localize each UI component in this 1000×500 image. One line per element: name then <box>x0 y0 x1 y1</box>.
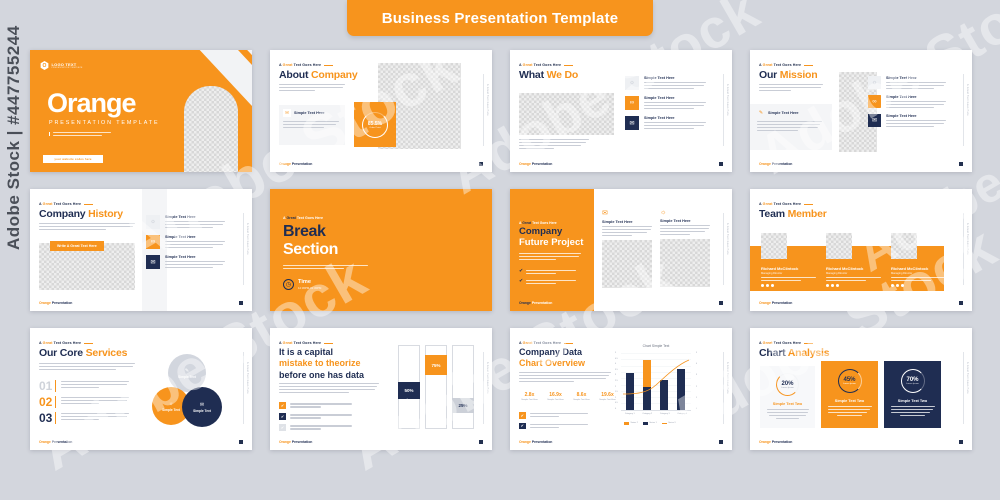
eyebrow: A Great Text Goes Here <box>759 202 813 206</box>
stat-row: 2.8x Sample Text Here 16.9x Sample Text … <box>519 392 618 402</box>
circle-label: Simple Text <box>178 375 196 379</box>
footer-brand: Orange Presentation <box>519 162 552 166</box>
slide-our-mission[interactable]: A Great Text Goes Here A Great Text Goes… <box>750 50 972 172</box>
card-title: Simple Text Two <box>773 402 802 406</box>
venn-circle-navy[interactable]: ✉ Simple Text <box>182 387 222 427</box>
donut-chart: 70% Lorem Ipsum <box>901 369 925 393</box>
stat-label: Sample Text Here <box>519 399 540 402</box>
card-title: Simple Text Two <box>835 399 864 403</box>
side-rail <box>243 352 244 424</box>
check-icon: ✔ <box>519 279 523 284</box>
rail-label: A Great Text Goes Here <box>966 362 969 394</box>
item-title: Simple Text Here <box>886 114 946 118</box>
slide-title: What We Do <box>519 69 578 81</box>
member-name: Richard McClintock <box>826 266 881 271</box>
chart-plot <box>621 353 691 411</box>
slide-title: About Company <box>279 69 358 81</box>
cta-button[interactable]: Write A Great Text Here <box>50 241 104 251</box>
footer-brand: Orange Presentation <box>39 301 72 305</box>
watermark-id: Adobe Stock | #447755244 <box>4 25 24 250</box>
social-icon[interactable] <box>771 284 774 287</box>
project-column[interactable]: ✉ Simple Text Here <box>602 209 652 288</box>
list-item[interactable]: 02 <box>39 396 129 408</box>
stat-value: 8.6x <box>571 392 592 398</box>
stat-tile: 85.5% Order Point <box>354 102 396 147</box>
info-card: ✉ Simple Text Here <box>279 105 345 145</box>
slide-our-core-services[interactable]: A Great Text Goes Here A Great Text Goes… <box>30 328 252 450</box>
donut-chart: 45% Lorem Ipsum <box>838 369 862 393</box>
member-role: Managing Director <box>891 272 946 275</box>
social-icon[interactable] <box>826 284 829 287</box>
rail-label: A Great Text Goes Here <box>726 223 729 255</box>
list-item[interactable]: ☼ Simple Text Here <box>868 76 946 89</box>
eyebrow: A Great Text Goes Here <box>759 341 813 345</box>
pen-icon: ✎ <box>185 368 189 374</box>
feature-list: ☼ Simple Text Here ∞ Simple Text Here ✉ … <box>868 76 946 127</box>
slide-company-history[interactable]: A Great Text Goes Here A Great Text Goes… <box>30 189 252 311</box>
eyebrow: A Great Text Goes Here <box>519 63 573 67</box>
item-title: Simple Text Here <box>165 215 225 219</box>
social-icon[interactable] <box>831 284 834 287</box>
analysis-card-1[interactable]: 20% Lorem Ipsum Simple Text Two <box>760 366 815 428</box>
slide-title-slide[interactable]: O LOGO TEXT PRESENTATION TEMPLATE Orange… <box>30 50 252 172</box>
check-item[interactable]: ✔ <box>519 412 588 419</box>
feature-list: ☼ Simple Text Here ∞ Simple Text Here ✉ … <box>146 215 225 269</box>
circle-label: Simple Text <box>193 409 211 413</box>
page-number <box>479 440 483 444</box>
social-icon[interactable] <box>891 284 894 287</box>
donut-sublabel: Lorem Ipsum <box>906 383 919 385</box>
check-list: ✔ ✔ <box>519 269 576 284</box>
avatar <box>761 233 787 259</box>
slide-team-member[interactable]: A Great Text Goes Here A Great Text Goes… <box>750 189 972 311</box>
break-title-line2: Section <box>283 242 338 258</box>
chat-icon: ✉ <box>625 116 639 130</box>
stat-item: 2.8x Sample Text Here <box>519 392 540 402</box>
pen-icon: ✎ <box>757 109 765 117</box>
legend-item[interactable]: Series 1 <box>643 422 657 425</box>
social-icon[interactable] <box>761 284 764 287</box>
stat-item: 8.6x Sample Text Here <box>571 392 592 402</box>
list-number: 02 <box>39 396 56 408</box>
website-field[interactable]: your website codes here <box>43 155 103 163</box>
trend-line <box>621 353 691 411</box>
social-icon[interactable] <box>901 284 904 287</box>
time-value: 12:30PM-01:30PM <box>298 286 321 290</box>
item-title: Simple Text Here <box>660 219 710 223</box>
donut-chart: 85.5% Order Point <box>362 112 388 138</box>
donut-chart: 20% Lorem Ipsum <box>776 373 799 396</box>
slide-title: Company History <box>39 208 123 220</box>
item-title: Simple Text Here <box>644 96 706 100</box>
list-item[interactable]: ✉ Simple Text Here <box>625 116 706 130</box>
slide-description <box>519 139 589 149</box>
list-item[interactable]: 03 <box>39 412 129 424</box>
y-axis: 54.543.532.521.510.50 <box>615 352 618 410</box>
slide-description <box>519 253 581 260</box>
x-tick: Category 3 <box>660 413 670 415</box>
item-title: Simple Text Here <box>886 76 946 80</box>
slide-description <box>279 383 379 393</box>
page-number <box>239 301 243 305</box>
card-title: Simple Text Here <box>768 111 799 115</box>
member-card[interactable]: Richard McClintock Managing Director <box>891 266 946 287</box>
stat-item: 16.9x Sample Text Here <box>545 392 566 402</box>
check-icon: ✔ <box>279 413 286 420</box>
rail-label: A Great Text Goes Here <box>726 84 729 116</box>
list-item[interactable]: 01 <box>39 380 129 392</box>
chat-icon: ✉ <box>868 114 881 127</box>
list-item[interactable]: ✉ Simple Text Here <box>146 255 225 269</box>
banner-title: Business Presentation Template <box>382 10 619 27</box>
item-title: Simple Text Here <box>165 255 225 259</box>
break-description <box>283 265 368 269</box>
project-column[interactable]: ☼ Simple Text Here <box>660 209 710 288</box>
check-icon: ✔ <box>519 269 523 274</box>
eyebrow: A Great Text Goes Here <box>519 341 573 345</box>
footer-brand: Orange Presentation <box>39 440 72 444</box>
rail-label: A Great Text Goes Here <box>486 84 489 116</box>
slide-title: Orange <box>47 88 136 119</box>
page-number <box>719 162 723 166</box>
list-item[interactable]: ∞ Simple Text Here <box>146 235 225 249</box>
check-list: ✔ ✔ <box>519 412 588 429</box>
check-icon: ✔ <box>519 412 526 419</box>
numbered-list: 01 02 03 <box>39 380 129 424</box>
logo-hex-icon: O <box>40 61 49 70</box>
slide-title: CompanyFuture Project <box>519 227 583 249</box>
side-rail <box>723 352 724 424</box>
eyebrow: A Great Text Goes Here <box>279 63 333 67</box>
page-number <box>719 301 723 305</box>
link-icon: ∞ <box>146 235 160 249</box>
logo: O LOGO TEXT PRESENTATION TEMPLATE <box>40 61 83 70</box>
footer-brand: Orange Presentation <box>519 301 552 305</box>
stat-value: 16.9x <box>545 392 566 398</box>
side-rail <box>963 213 964 285</box>
member-role: Managing Director <box>826 272 881 275</box>
slide-what-we-do[interactable]: A Great Text Goes Here A Great Text Goes… <box>510 50 732 172</box>
social-icon[interactable] <box>896 284 899 287</box>
slide-grid: O LOGO TEXT PRESENTATION TEMPLATE Orange… <box>30 50 975 450</box>
list-number: 01 <box>39 380 56 392</box>
legend-item[interactable]: Series 2 <box>624 422 638 425</box>
rail-label: A Great Text Goes Here <box>486 362 489 394</box>
check-item[interactable]: ✔ <box>519 269 576 274</box>
slide-description <box>759 84 823 91</box>
footer-brand: Orange Presentation <box>759 162 792 166</box>
check-icon: ✔ <box>279 424 286 431</box>
side-rail <box>483 74 484 146</box>
feature-list: ☼ Simple Text Here ∞ Simple Text Here ✉ … <box>625 76 706 130</box>
member-card[interactable]: Richard McClintock Managing Director <box>761 266 816 287</box>
slide-about-company[interactable]: A Great Text Goes Here A Great Text Goes… <box>270 50 492 172</box>
slide-title: Our Mission <box>759 69 818 81</box>
chat-icon: ✉ <box>146 255 160 269</box>
slide-capital-mistake[interactable]: A Great Text Goes Here A Great Text Goes… <box>270 328 492 450</box>
list-item[interactable]: ✉ Simple Text Here <box>868 114 946 127</box>
slide-company-future-project[interactable]: A Great Text Goes Here A Great Text Goes… <box>510 189 732 311</box>
check-icon: ✔ <box>279 402 286 409</box>
slide-title: Our Core Services <box>39 347 127 359</box>
x-axis: Category 1 Category 2 Category 3 Categor… <box>621 413 691 415</box>
item-title: Simple Text Here <box>886 95 946 99</box>
legend-item[interactable]: Series 3 <box>662 422 676 424</box>
page-number <box>959 440 963 444</box>
slide-title: Company DataChart Overview <box>519 347 585 370</box>
chart-container[interactable]: Chart Simple Text 54.543.532.521.510.50 … <box>614 344 698 432</box>
slide-title: It is a capital mistake to theorize befo… <box>279 347 364 381</box>
rail-label: A Great Text Goes Here <box>246 223 249 255</box>
lightbulb-icon: ☼ <box>868 76 881 89</box>
member-card[interactable]: Richard McClintock Managing Director <box>826 266 881 287</box>
list-item[interactable]: ☼ Simple Text Here <box>625 76 706 90</box>
card-title: Simple Text Here <box>294 111 325 115</box>
card-title: Simple Text Two <box>898 399 927 403</box>
bar-value: 25% <box>452 398 473 413</box>
mail-icon: ✉ <box>602 209 652 217</box>
side-rail <box>963 352 964 424</box>
donut-sublabel: Lorem Ipsum <box>781 387 794 389</box>
eyebrow: A Great Text Goes Here <box>39 202 93 206</box>
slide-description <box>39 223 135 230</box>
side-rail <box>243 213 244 285</box>
x-tick: Category 4 <box>677 413 687 415</box>
bar-track: 25% <box>452 345 474 429</box>
analysis-card-2[interactable]: 45% Lorem Ipsum Simple Text Two <box>821 361 878 428</box>
slide-description <box>39 363 135 370</box>
eyebrow: A Great Text Goes Here <box>519 221 557 225</box>
list-number: 03 <box>39 412 56 424</box>
side-rail <box>723 213 724 285</box>
slide-company-data-chart-overview[interactable]: A Great Text Goes Here A Great Text Goes… <box>510 328 732 450</box>
x-tick: Category 1 <box>625 413 635 415</box>
list-item[interactable]: ∞ Simple Text Here <box>625 96 706 110</box>
chat-icon: ✉ <box>200 402 204 408</box>
circle-label: Simple Text <box>162 408 180 412</box>
stat-label: Sample Text Here <box>545 399 566 402</box>
avatar <box>891 233 917 259</box>
slide-title: Chart Analysis <box>759 347 829 359</box>
rail-label: A Great Text Goes Here <box>726 362 729 394</box>
link-icon: ∞ <box>868 95 881 108</box>
page-number <box>239 440 243 444</box>
image-placeholder <box>519 93 614 135</box>
eyebrow: A Great Text Goes Here <box>39 341 93 345</box>
page-number <box>959 301 963 305</box>
eyebrow: A Great Text Goes Here <box>283 216 323 220</box>
bar-track: 75% <box>425 345 447 429</box>
avatar <box>826 233 852 259</box>
person-silhouette <box>184 86 238 172</box>
list-item[interactable]: ☼ Simple Text Here <box>146 215 225 229</box>
footer-brand: Orange Presentation <box>759 301 792 305</box>
slide-subtitle: PRESENTATION TEMPLATE <box>49 120 160 126</box>
slide-description <box>49 132 111 136</box>
side-rail <box>723 74 724 146</box>
list-item[interactable]: ∞ Simple Text Here <box>868 95 946 108</box>
link-icon: ∞ <box>625 96 639 110</box>
member-role: Managing Director <box>761 272 816 275</box>
rail-label: A Great Text Goes Here <box>966 84 969 116</box>
chat-icon: ✉ <box>283 109 291 117</box>
stat-label: Sample Text Here <box>571 399 592 402</box>
image-placeholder <box>602 240 652 288</box>
clock-icon: ◷ <box>283 279 294 290</box>
time-block: ◷ Time 12:30PM-01:30PM <box>283 279 321 290</box>
logo-subtext: PRESENTATION TEMPLATE <box>52 67 83 69</box>
lightbulb-icon: ☼ <box>660 209 710 216</box>
chart-title: Chart Simple Text <box>614 344 698 348</box>
slide-description <box>279 84 345 91</box>
analysis-card-3[interactable]: 70% Lorem Ipsum Simple Text Two <box>884 361 941 428</box>
slide-break-section[interactable]: A Great Text Goes Here Break Section ◷ T… <box>270 189 492 311</box>
side-rail <box>963 74 964 146</box>
image-placeholder <box>660 239 710 287</box>
slide-description <box>519 372 611 382</box>
check-item[interactable]: ✔ <box>279 424 352 431</box>
item-title: Simple Text Here <box>602 220 652 224</box>
member-name: Richard McClintock <box>761 266 816 271</box>
check-item[interactable]: ✔ <box>279 402 352 409</box>
footer-brand: Orange Presentation <box>279 440 312 444</box>
lightbulb-icon: ☼ <box>146 215 160 229</box>
x-tick: Category 2 <box>642 413 652 415</box>
footer-brand: Orange Presentation <box>519 440 552 444</box>
stat-value: 2.8x <box>519 392 540 398</box>
bar-value: 50% <box>398 382 419 399</box>
member-name: Richard McClintock <box>891 266 946 271</box>
eyebrow: A Great Text Goes Here <box>759 63 813 67</box>
check-item[interactable]: ✔ <box>519 279 576 284</box>
footer-brand: Orange Presentation <box>759 440 792 444</box>
donut-sublabel: Lorem Ipsum <box>843 383 856 385</box>
slide-chart-analysis[interactable]: A Great Text Goes Here A Great Text Goes… <box>750 328 972 450</box>
lightbulb-icon: ☼ <box>625 76 639 90</box>
rail-label: A Great Text Goes Here <box>966 223 969 255</box>
bar-track: 50% <box>398 345 420 429</box>
y-axis-secondary: 543210 <box>696 352 697 410</box>
item-title: Simple Text Here <box>644 76 706 80</box>
slide-title: Team Member <box>759 208 827 220</box>
page-number <box>719 440 723 444</box>
stat-label: Order Point <box>369 127 380 129</box>
header-banner: Business Presentation Template <box>347 0 653 36</box>
eyebrow: A Great Text Goes Here <box>279 341 333 345</box>
social-icon[interactable] <box>766 284 769 287</box>
check-item[interactable]: ✔ <box>279 413 352 420</box>
footer-brand: Orange Presentation <box>279 162 312 166</box>
page-number <box>479 162 483 166</box>
rail-label: A Great Text Goes Here <box>246 362 249 394</box>
check-icon: ✔ <box>519 423 526 430</box>
check-item[interactable]: ✔ <box>519 423 588 430</box>
info-card: ✎ Simple Text Here <box>750 104 832 150</box>
lightbulb-icon: ☼ <box>169 401 174 407</box>
side-rail <box>483 352 484 424</box>
check-list: ✔ ✔ ✔ <box>279 402 352 431</box>
item-title: Simple Text Here <box>165 235 225 239</box>
decor-panel <box>510 189 594 311</box>
social-icon[interactable] <box>836 284 839 287</box>
page-number <box>959 162 963 166</box>
bar-value: 75% <box>425 355 446 375</box>
project-columns: ✉ Simple Text Here ☼ Simple Text Here <box>602 209 710 288</box>
break-title-line1: Break <box>283 224 325 240</box>
chart-legend: Series 2 Series 1 Series 3 <box>624 422 676 425</box>
item-title: Simple Text Here <box>644 116 706 120</box>
